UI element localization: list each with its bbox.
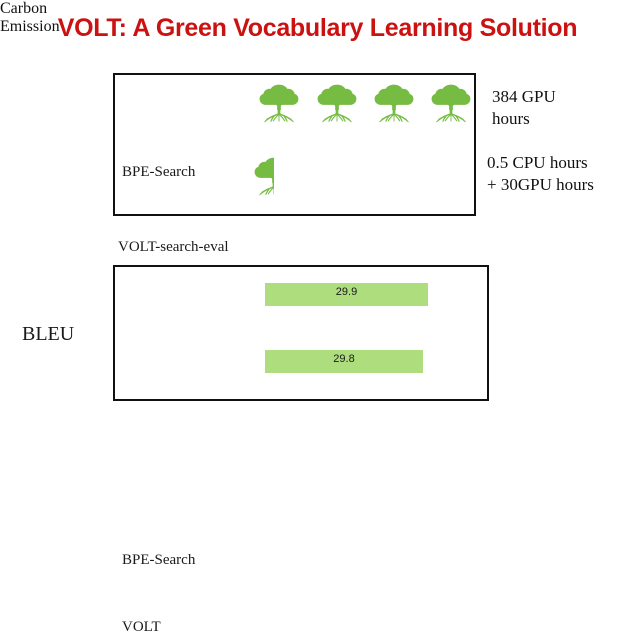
bleu-row-label-bpe-search: BPE-Search [122, 552, 195, 569]
carbon-note-bpe-line1: 384 GPU [492, 86, 622, 108]
carbon-note-bpe-line2: hours [492, 108, 622, 130]
tree-icon [314, 81, 360, 127]
bleu-bar-value-volt: 29.8 [265, 353, 423, 365]
half-tree-icon [251, 154, 274, 200]
carbon-note-volt-line2: + 30GPU hours [487, 174, 635, 196]
bleu-row-label-volt: VOLT [122, 619, 161, 636]
carbon-note-bpe-search: 384 GPU hours [492, 86, 622, 130]
tree-icon [256, 81, 302, 127]
page-title: VOLT: A Green Vocabulary Learning Soluti… [0, 14, 635, 43]
tree-icon [428, 81, 474, 127]
carbon-row-label-volt-search-eval: VOLT-search-eval [118, 239, 229, 256]
carbon-note-volt-line1: 0.5 CPU hours [487, 152, 635, 174]
carbon-note-volt-search-eval: 0.5 CPU hours + 30GPU hours [487, 152, 635, 196]
bleu-bar-volt: 29.8 [265, 350, 423, 373]
section-label-bleu: BLEU [22, 322, 117, 347]
tree-icon [371, 81, 417, 127]
bleu-bar-bpe-search: 29.9 [265, 283, 428, 306]
carbon-row-label-bpe-search: BPE-Search [122, 164, 195, 181]
bleu-bar-value-bpe-search: 29.9 [265, 286, 428, 298]
